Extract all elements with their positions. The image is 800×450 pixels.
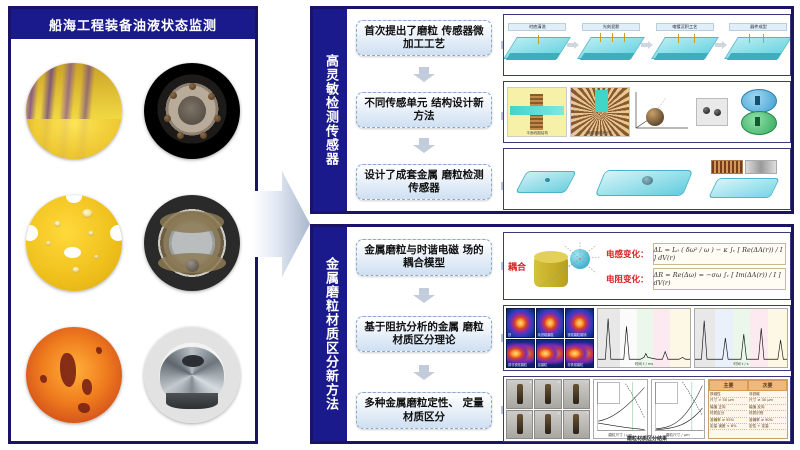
table-header-row: 主要 次要	[709, 380, 787, 391]
slab-pin	[538, 35, 539, 44]
gear-base	[166, 393, 218, 409]
particle-image-grid: a b c d e f	[506, 379, 590, 439]
wear-particle	[82, 379, 92, 395]
particle-shape	[573, 384, 579, 404]
oil-droplet	[72, 267, 80, 273]
structure-strip: 平面线圈结构 螺线管磁场分布	[504, 82, 790, 142]
particle-image: a	[506, 379, 533, 409]
photo-cell-5	[15, 309, 133, 441]
coil-winding	[510, 106, 564, 115]
down-arrow-icon	[413, 288, 435, 303]
oil-droplet	[46, 241, 51, 246]
photo-cell-3	[15, 177, 133, 309]
high-flow-sensor-model	[598, 158, 690, 200]
page-title: 船海工程装备油液状态监测	[11, 9, 255, 39]
particle-shape	[517, 414, 523, 434]
micro-inductive-sensor-model	[517, 159, 577, 199]
photo-cell-4	[133, 177, 251, 309]
bolt-hole	[208, 93, 215, 100]
flow-step-coupling-model[interactable]: 金属磨粒与时谐电磁 场的耦合模型	[356, 239, 492, 275]
peak-trace	[695, 309, 787, 367]
coil-photo	[711, 160, 743, 174]
oil-wear-debris-photo	[26, 327, 122, 423]
heatmap-tag: 铁	[508, 332, 511, 337]
particle-shape	[545, 414, 551, 434]
discrimination-strip: a b c d e f	[504, 377, 790, 441]
heatmap-tag: 非铁磁磨粒	[567, 362, 583, 367]
oil-droplet	[82, 209, 93, 218]
down-arrow-icon	[413, 138, 435, 153]
heatmap-tag: 铝磨粒	[538, 362, 548, 367]
formula-expr-inductance: ΔL = L₀ ( δω² / ω ) − κ ∫ᵥ [ Re(ΔA(r)) /…	[653, 243, 786, 265]
flow-step-impedance-theory[interactable]: 基于阻抗分析的金属 磨粒材质区分理论	[356, 316, 492, 352]
flow-step-sensor-suite[interactable]: 设计了成套金属 磨粒检测传感器	[356, 164, 492, 200]
slab-side	[506, 53, 560, 60]
wear-particle	[96, 347, 102, 354]
row-caption: 磨粒材质区分结果	[504, 435, 790, 442]
right-arrow-icon	[641, 41, 653, 49]
formula-row-resistance: 电阻变化： ΔR = Re(Δω) = −σω ∫ᵥ [ Im(ΔA(r)) /…	[606, 268, 786, 290]
particle-shape	[517, 384, 523, 404]
fem-heatmap: 纯铁磁磨粒	[536, 308, 565, 338]
photo-grid	[11, 41, 255, 445]
device-photo	[745, 160, 777, 174]
particle-sphere	[646, 108, 664, 126]
panel-bottom-flow-column: 金属磨粒与时谐电磁 场的耦合模型 基于阻抗分析的金属 磨粒材质区分理论 多种金属…	[349, 227, 499, 441]
prototype-strip	[504, 149, 790, 209]
particle-dot	[703, 107, 710, 114]
coupling-label: 耦合	[508, 260, 526, 273]
qualitative-quantitative-row: a b c d e f	[503, 376, 791, 442]
phase-vs-size-curve: 磨粒尺寸 / μm	[651, 379, 706, 439]
sensor-body	[708, 178, 780, 198]
flow-step-micromachining[interactable]: 首次提出了磨粒 传感器微加工工艺	[356, 20, 492, 56]
structure-caption: 平面线圈结构	[508, 131, 566, 136]
panel-top-flow-column: 首次提出了磨粒 传感器微加工工艺 不同传感单元 结构设计新方法 设计了成套金属 …	[349, 9, 499, 211]
photo-cell-2	[133, 45, 251, 177]
coupling-strip: 耦合 电感变化：	[504, 233, 790, 299]
particle-tag: a	[529, 380, 531, 384]
composite-sensor-model	[711, 158, 777, 200]
slab-pin	[600, 33, 601, 42]
fem-heatmap-grid: 铁 纯铁磁磨粒 铁磁磨粒磁场 铜非铁磁磨粒 铝磨粒 非铁磁磨粒	[506, 308, 594, 368]
table-column-secondary: 非铁磁 尺寸 ≥ 30 μm 幅值 反向 材质识别 准确率 ≥ 90% 定性 +…	[748, 391, 787, 438]
slab-title: 衬底清洗	[508, 23, 566, 31]
fem-heatmap: 铁磁磨粒磁场	[565, 308, 594, 338]
slab-pin	[624, 33, 625, 42]
panel-bottom-sidebar-title: 金属磨粒材质区分新方法	[313, 227, 347, 441]
coil-core	[595, 90, 608, 112]
oil-droplet	[94, 255, 99, 259]
left-photo-panel: 船海工程装备油液状态监测	[8, 6, 258, 444]
corroded-bearing-photo	[144, 195, 240, 291]
oil-notch	[66, 195, 82, 203]
bevel-gear-photo	[144, 327, 240, 423]
table-cell: 定性 + 定量	[749, 424, 786, 430]
sensing-unit-structure-row: 平面线圈结构 螺线管磁场分布	[503, 81, 791, 143]
oil-hole	[64, 247, 81, 258]
curve-trace	[652, 380, 705, 438]
process-slab-strip: 衬底清洗 光刻显影 电镀沉积工艺	[504, 15, 790, 75]
slab-title: 电镀沉积工艺	[656, 23, 714, 31]
oil-gear-teeth-photo	[26, 63, 122, 159]
slab-title: 光刻显影	[582, 23, 640, 31]
field-ray-icon	[530, 241, 602, 291]
impedance-analysis-row: 铁 纯铁磁磨粒 铁磁磨粒磁场 铜非铁磁磨粒 铝磨粒 非铁磁磨粒	[503, 305, 791, 371]
particle-tag: d	[529, 411, 531, 415]
formula-column: 电感变化： ΔL = L₀ ( δω² / ω ) − κ ∫ᵥ [ Re(ΔA…	[606, 243, 786, 290]
sensor-prototype-row	[503, 148, 791, 210]
coupling-model-row: 耦合 电感变化：	[503, 232, 791, 300]
plot-xlabel: 时间 t / ms	[598, 362, 690, 367]
flow-step-structure-design[interactable]: 不同传感单元 结构设计新方法	[356, 92, 492, 128]
wear-particle	[60, 353, 76, 387]
poster-canvas: 船海工程装备油液状态监测	[0, 0, 800, 450]
sensor-body	[515, 171, 577, 193]
heatmap-tag: 铁磁磨粒磁场	[567, 332, 586, 337]
process-slab: 衬底清洗	[508, 23, 564, 67]
photo-cell-1	[15, 45, 133, 177]
table-body: 铁磁性 尺寸 > 50 μm 幅值 正向 材质区分 准确率 ≥ 95% 定量 误…	[709, 391, 787, 438]
gear-bore	[182, 355, 204, 367]
heatmap-tag: 纯铁磁磨粒	[538, 332, 554, 337]
particle-dot	[714, 109, 721, 116]
peak-trace	[598, 309, 690, 367]
structure-caption: 螺线管磁场分布	[571, 131, 629, 136]
oil-droplet	[88, 231, 94, 236]
slab-pin	[678, 34, 679, 43]
table-header-primary: 主要	[709, 380, 748, 391]
particle-force-model	[632, 88, 694, 136]
process-slab: 电镀沉积工艺	[656, 23, 712, 67]
rolling-element	[186, 259, 199, 272]
formula-label-resistance: 电阻变化：	[606, 273, 649, 285]
big-transition-arrow	[252, 165, 310, 283]
slab-title: 器件成型	[729, 23, 787, 31]
particle-tag: f	[587, 411, 588, 415]
planar-coil-section: 平面线圈结构	[507, 87, 567, 137]
bearing-flange-photo	[144, 63, 240, 159]
bolt-hole	[164, 115, 171, 122]
coil-slot	[755, 117, 760, 126]
impedance-peak-plot-right: 时间 t / s	[694, 308, 788, 368]
solenoid-field-section: 螺线管磁场分布	[570, 87, 630, 137]
wear-particle	[40, 375, 47, 383]
slab-pin	[749, 34, 750, 43]
micromachining-process-row: 衬底清洗 光刻显影 电镀沉积工艺	[503, 14, 791, 76]
particle-tag: c	[586, 380, 588, 384]
slab-pin	[763, 34, 764, 43]
particle-micrograph	[696, 98, 728, 126]
particle-tag: e	[558, 411, 560, 415]
oil-droplet	[54, 221, 61, 227]
heatmap-tag: 铜非铁磁磨粒	[508, 362, 527, 367]
down-arrow-icon	[413, 67, 435, 82]
sensor-port	[545, 178, 550, 182]
fem-heatmap: 铜非铁磁磨粒	[506, 339, 535, 369]
slab-side	[727, 53, 781, 60]
particle-tag: b	[558, 380, 560, 384]
bolt-hole	[170, 92, 177, 99]
table-column-primary: 铁磁性 尺寸 > 50 μm 幅值 正向 材质区分 准确率 ≥ 95% 定量 误…	[709, 391, 748, 438]
oil-notch	[110, 225, 122, 241]
panel-top-sidebar-title: 高灵敏检测传感器	[313, 9, 347, 211]
particle-image: b	[534, 379, 561, 409]
process-slab: 器件成型	[729, 23, 785, 67]
bolt-hole	[214, 115, 221, 122]
bolt-hole	[177, 132, 184, 139]
fem-heatmap: 非铁磁磨粒	[565, 339, 594, 369]
sensor-port	[642, 176, 653, 185]
formula-row-inductance: 电感变化： ΔL = L₀ ( δω² / ω ) − κ ∫ᵥ [ Re(ΔA…	[606, 243, 786, 265]
bearing-hub	[178, 97, 206, 125]
bolt-hole	[200, 132, 207, 139]
particle-shape	[573, 414, 579, 434]
flow-step-material-discrimination[interactable]: 多种金属磨粒定性、 定量材质区分	[356, 392, 492, 428]
impedance-peak-plot-left: 时间 t / ms	[597, 308, 691, 368]
amplitude-vs-size-curve: 磨粒尺寸 / μm	[593, 379, 648, 439]
top-right-panel: 高灵敏检测传感器 首次提出了磨粒 传感器微加工工艺 不同传感单元 结构设计新方法…	[310, 6, 794, 214]
particle-shape	[545, 384, 551, 404]
coil-slot	[755, 96, 760, 105]
oil-droplets-photo	[26, 195, 122, 291]
slab-pin	[612, 33, 613, 42]
photo-cell-6	[133, 309, 251, 441]
table-cell: 定量 误差 < 8%	[710, 424, 747, 430]
coupling-illustration	[530, 241, 602, 291]
oil-notch	[26, 225, 38, 241]
fem-heatmap: 铁	[506, 308, 535, 338]
formula-expr-resistance: ΔR = Re(Δω) = −σω ∫ᵥ [ Im(ΔA(r)) / I ] d…	[653, 268, 786, 290]
impedance-strip: 铁 纯铁磁磨粒 铁磁磨粒磁场 铜非铁磁磨粒 铝磨粒 非铁磁磨粒	[504, 306, 790, 370]
wear-particle	[78, 403, 90, 413]
slab-side	[580, 53, 634, 60]
corrosion-deposit	[160, 211, 224, 233]
formula-label-inductance: 电感变化：	[606, 248, 649, 260]
slab-pin	[694, 34, 695, 43]
differential-coil-model	[731, 87, 787, 137]
down-arrow-icon	[413, 365, 435, 380]
right-arrow-icon	[567, 41, 579, 49]
right-arrow-icon	[715, 41, 727, 49]
process-slab: 光刻显影	[582, 23, 638, 67]
curve-trace	[594, 380, 647, 438]
bottom-right-panel: 金属磨粒材质区分新方法 金属磨粒与时谐电磁 场的耦合模型 基于阻抗分析的金属 磨…	[310, 224, 794, 444]
plot-xlabel: 时间 t / s	[695, 362, 787, 367]
particle-image: c	[563, 379, 590, 409]
fem-heatmap: 铝磨粒	[536, 339, 565, 369]
slab-side	[654, 53, 708, 60]
table-header-secondary: 次要	[748, 380, 787, 391]
discrimination-result-table: 主要 次要 铁磁性 尺寸 > 50 μm 幅值 正向 材质区分 准确率 ≥ 95…	[708, 379, 788, 439]
bolt-hole	[189, 83, 196, 90]
